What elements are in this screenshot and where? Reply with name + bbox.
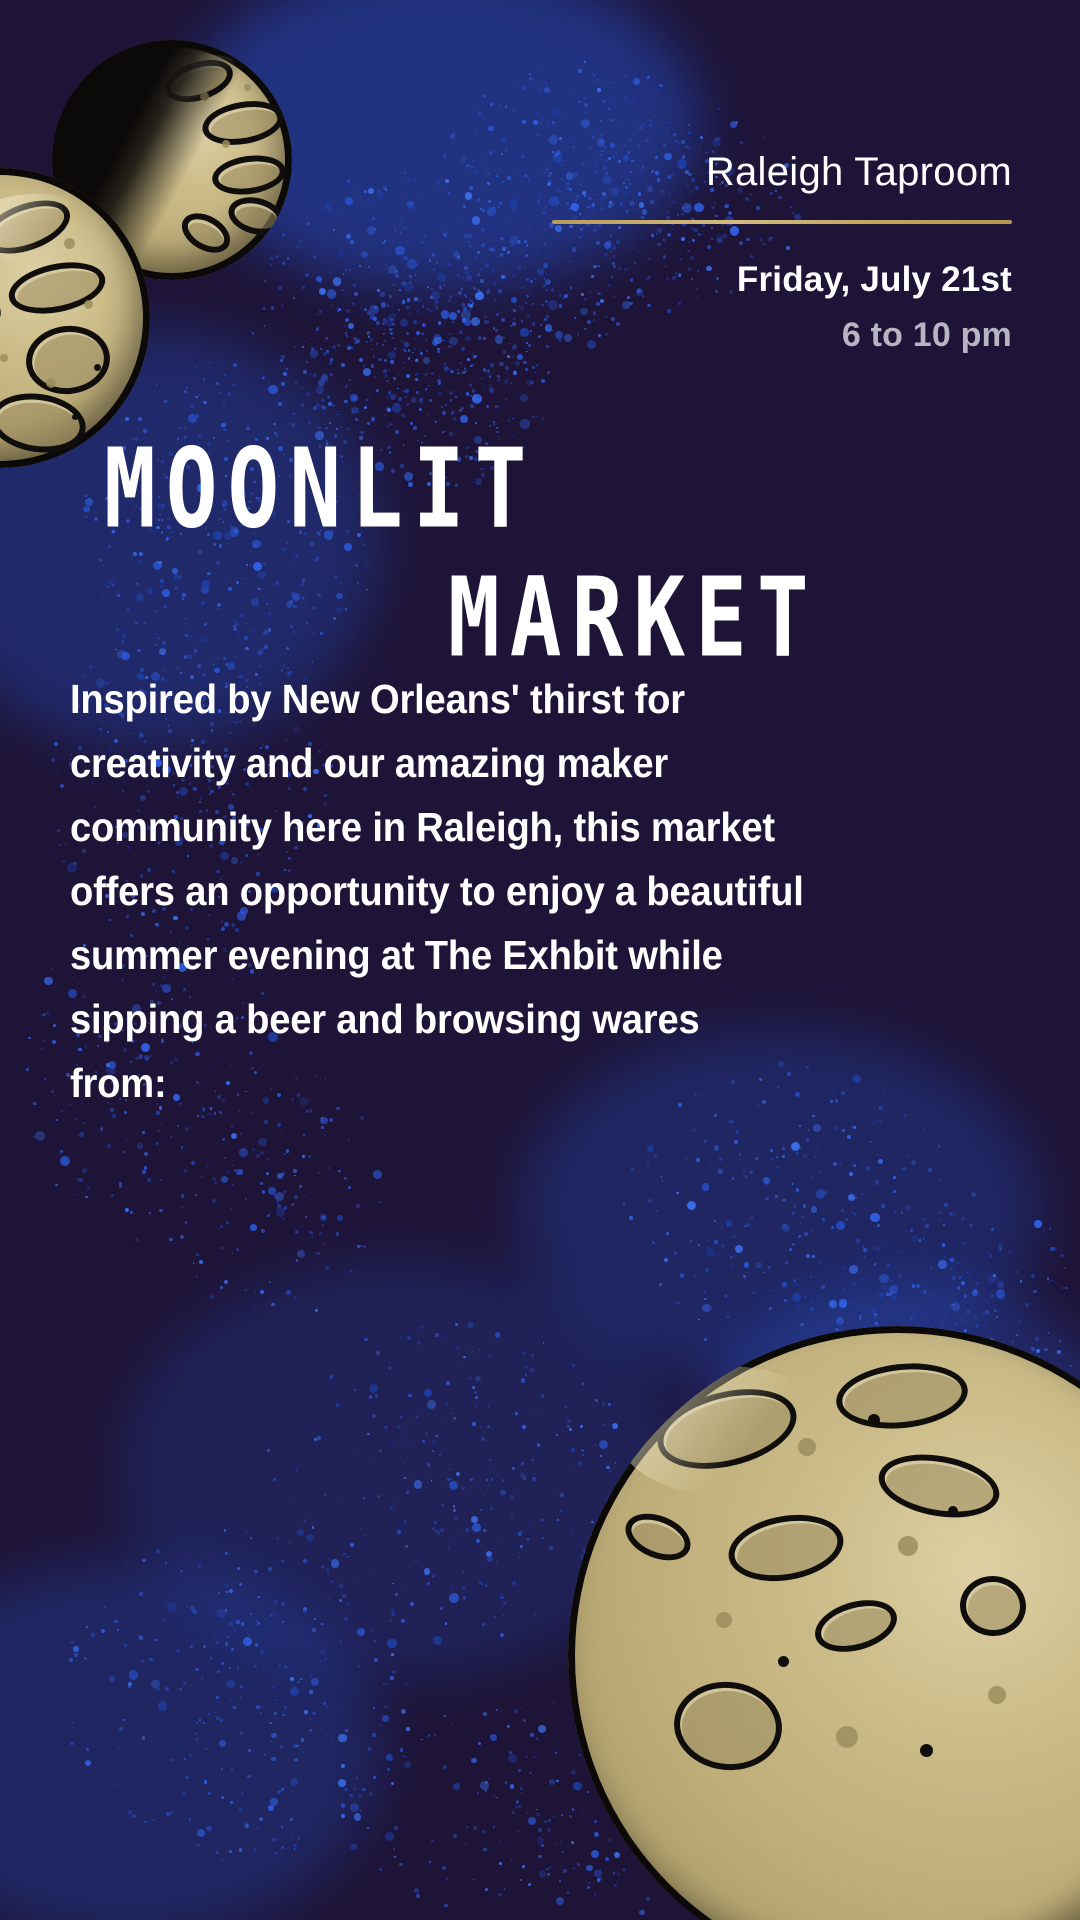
- venue-title: Raleigh Taproom: [492, 150, 1012, 194]
- moon-speck: [716, 1612, 732, 1628]
- poster-canvas: Raleigh Taproom Friday, July 21st 6 to 1…: [0, 0, 1080, 1920]
- moon-ink-fleck: [920, 1744, 933, 1757]
- moon-ink-fleck: [868, 1414, 880, 1426]
- moon-ink-fleck: [948, 1506, 958, 1516]
- moon-speck: [0, 354, 8, 362]
- description-paragraph: Inspired by New Orleans' thirst for crea…: [70, 668, 805, 1116]
- description-block: Inspired by New Orleans' thirst for crea…: [70, 668, 860, 1116]
- event-date: Friday, July 21st: [492, 260, 1012, 300]
- moon-speck: [836, 1726, 858, 1748]
- moon-bottom-right: [568, 1326, 1080, 1920]
- moon-highlight: [616, 1366, 836, 1496]
- moon-speck: [988, 1686, 1006, 1704]
- gold-divider: [552, 220, 1012, 224]
- moon-speck: [46, 378, 56, 388]
- moon-speck: [84, 300, 93, 309]
- moon-ink-fleck: [94, 364, 101, 371]
- moon-ink-fleck: [778, 1656, 789, 1667]
- event-header: Raleigh Taproom Friday, July 21st 6 to 1…: [492, 150, 1012, 355]
- moon-speck: [898, 1536, 918, 1556]
- event-time: 6 to 10 pm: [492, 316, 1012, 355]
- moon-ink-fleck: [72, 414, 78, 420]
